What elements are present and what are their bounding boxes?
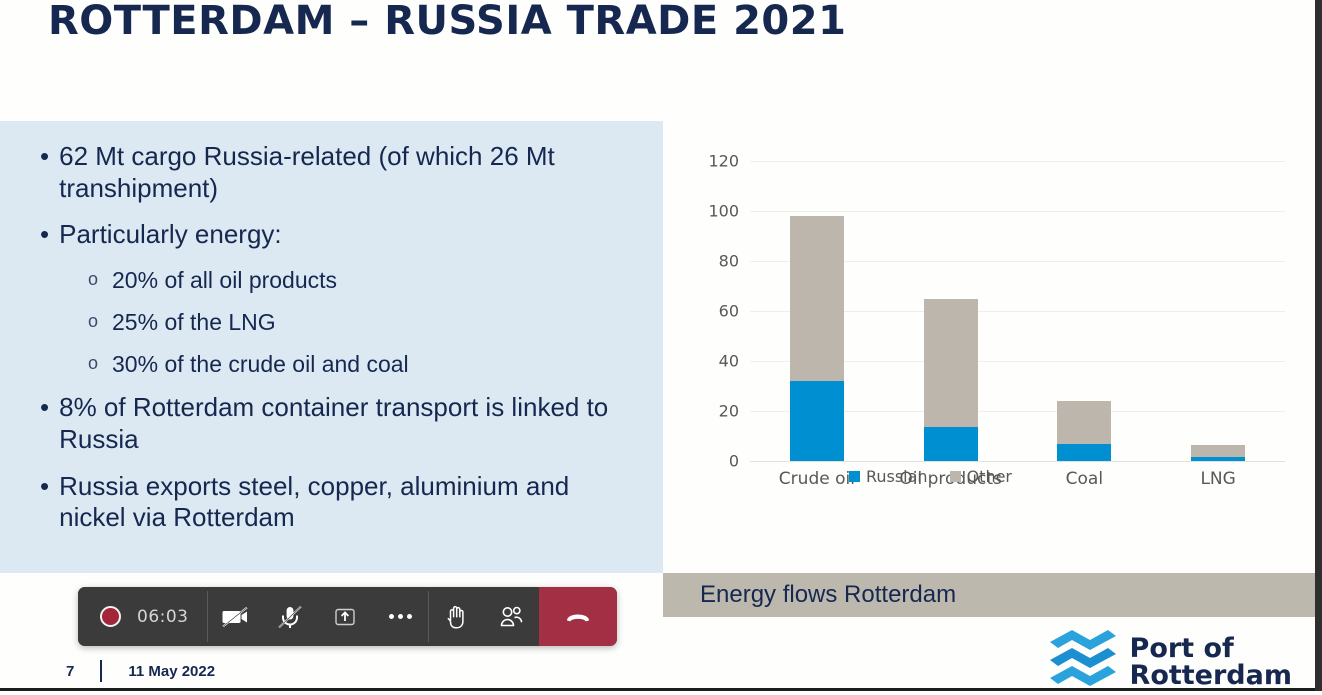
y-axis-tick-label: 20 — [719, 402, 739, 421]
chart-caption-bar: Energy flows Rotterdam — [663, 573, 1322, 617]
y-axis-tick-label: 80 — [719, 252, 739, 271]
chart-gridline — [750, 161, 1285, 162]
port-of-rotterdam-logo: Port of Rotterdam — [1046, 628, 1292, 695]
bullet-marker: • — [40, 141, 49, 204]
logo-line-2: Rotterdam — [1130, 660, 1292, 691]
call-control-toolbar[interactable]: 06:03 — [78, 587, 617, 646]
bullet-marker: • — [40, 471, 49, 534]
bar-segment-russian — [790, 381, 844, 461]
legend-item: Other — [950, 467, 1012, 486]
engagement-controls — [429, 587, 539, 646]
logo-wordmark: Port of Rotterdam — [1130, 635, 1292, 689]
bar-chart: 020406080100120Crude oilOil productsCoal… — [750, 161, 1285, 461]
raise-hand-icon — [441, 602, 471, 632]
bullet-text: 20% of all oil products — [112, 266, 337, 294]
legend-swatch — [950, 471, 961, 482]
bullet-item: •8% of Rotterdam container transport is … — [40, 392, 640, 455]
bullet-text: 25% of the LNG — [112, 308, 276, 336]
legend-swatch — [849, 471, 860, 482]
y-axis-tick-label: 60 — [719, 302, 739, 321]
slide-date: 11 May 2022 — [128, 663, 215, 680]
chart-caption-text: Energy flows Rotterdam — [700, 581, 956, 609]
page-title: ROTTERDAM – RUSSIA TRADE 2021 — [48, 0, 846, 44]
slide-footer: 7 11 May 2022 — [66, 660, 215, 682]
window-right-edge — [1315, 0, 1322, 691]
bullet-list: •62 Mt cargo Russia-related (of which 26… — [40, 141, 640, 549]
bullet-text: 62 Mt cargo Russia-related (of which 26 … — [59, 141, 640, 204]
sub-bullet-item: o30% of the crude oil and coal — [88, 350, 640, 378]
camera-off-icon — [220, 602, 250, 632]
bullet-marker: o — [88, 350, 98, 378]
sub-bullet-item: o25% of the LNG — [88, 308, 640, 336]
legend-label: Other — [967, 467, 1012, 486]
y-axis-tick-label: 120 — [708, 152, 739, 171]
slide-number: 7 — [66, 663, 74, 680]
y-axis-tick-label: 100 — [708, 202, 739, 221]
microphone-toggle-button[interactable] — [263, 587, 318, 646]
camera-toggle-button[interactable] — [208, 587, 263, 646]
raise-hand-button[interactable] — [429, 587, 484, 646]
bar-segment-other — [790, 216, 844, 381]
recording-indicator: 06:03 — [78, 587, 207, 646]
hang-up-icon — [561, 600, 595, 634]
record-dot-icon — [100, 606, 121, 627]
chart-bar — [790, 216, 844, 461]
chart-bar — [1057, 401, 1111, 461]
sub-bullet-item: o20% of all oil products — [88, 266, 640, 294]
hang-up-button[interactable] — [539, 587, 617, 646]
bar-segment-other — [1057, 401, 1111, 444]
legend-item: Russian — [849, 467, 928, 486]
bar-segment-russian — [1057, 444, 1111, 462]
bullet-item: •Particularly energy: — [40, 219, 640, 251]
bullet-marker: o — [88, 266, 98, 294]
chart-bar — [1191, 445, 1245, 461]
bullet-text: 8% of Rotterdam container transport is l… — [59, 392, 640, 455]
legend-label: Russian — [866, 467, 928, 486]
bullet-item: •62 Mt cargo Russia-related (of which 26… — [40, 141, 640, 204]
bullet-panel: •62 Mt cargo Russia-related (of which 26… — [0, 121, 663, 573]
y-axis-tick-label: 40 — [719, 352, 739, 371]
bullet-text: 30% of the crude oil and coal — [112, 350, 409, 378]
recording-timer: 06:03 — [137, 607, 189, 627]
more-options-icon — [389, 614, 412, 619]
chart-bar — [924, 299, 978, 462]
bullet-marker: o — [88, 308, 98, 336]
x-axis-tick-label: LNG — [1200, 469, 1235, 489]
port-of-rotterdam-mark-icon — [1046, 628, 1120, 695]
bullet-text: Russia exports steel, copper, aluminium … — [59, 471, 640, 534]
chart-gridline — [750, 461, 1285, 462]
chart-region: 020406080100120Crude oilOil productsCoal… — [663, 121, 1322, 573]
presentation-slide: ROTTERDAM – RUSSIA TRADE 2021 •62 Mt car… — [0, 0, 1322, 691]
bullet-marker: • — [40, 219, 49, 251]
share-screen-icon — [330, 602, 360, 632]
more-options-button[interactable] — [373, 587, 428, 646]
bullet-marker: • — [40, 392, 49, 455]
media-controls — [208, 587, 428, 646]
bar-segment-other — [924, 299, 978, 428]
bar-segment-russian — [1191, 457, 1245, 461]
chart-gridline — [750, 211, 1285, 212]
bar-segment-other — [1191, 445, 1245, 458]
chart-legend: RussianOther — [663, 467, 1198, 486]
bar-segment-russian — [924, 427, 978, 461]
microphone-off-icon — [275, 602, 305, 632]
participants-button[interactable] — [484, 587, 539, 646]
participants-icon — [496, 602, 526, 632]
footer-divider — [100, 660, 102, 682]
bullet-text: Particularly energy: — [59, 219, 282, 251]
share-screen-button[interactable] — [318, 587, 373, 646]
bullet-item: •Russia exports steel, copper, aluminium… — [40, 471, 640, 534]
